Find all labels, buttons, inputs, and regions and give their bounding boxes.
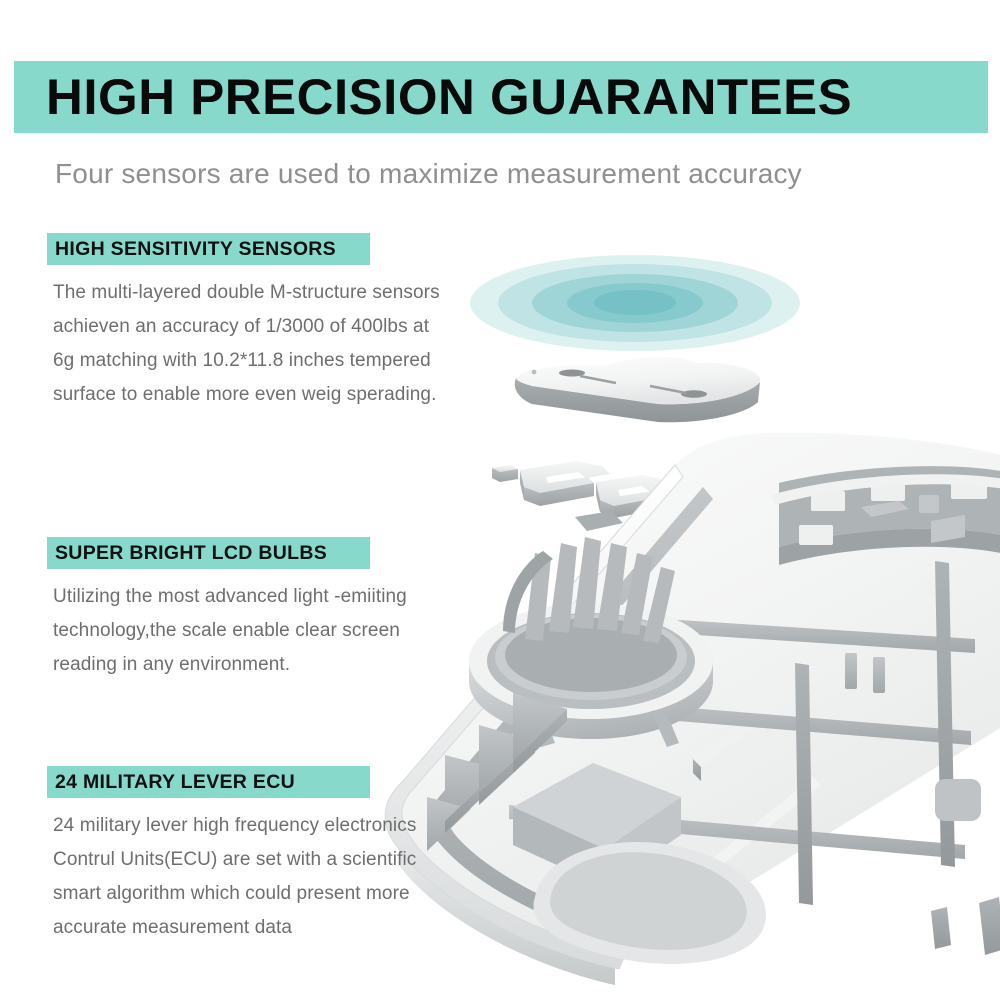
infographic-page: HIGH PRECISION GUARANTEES Four sensors a… <box>0 0 1000 1000</box>
sensor-pin <box>532 370 537 375</box>
header-banner: HIGH PRECISION GUARANTEES <box>14 61 988 133</box>
section-super-bright-lcd-bulbs: SUPER BRIGHT LCD BULBS Utilizing the mos… <box>47 537 453 682</box>
load-cell-plate <box>508 352 778 432</box>
section-24-military-lever-ecu: 24 MILITARY LEVER ECU 24 military lever … <box>47 766 453 945</box>
boss-cap <box>575 511 623 531</box>
scale-internal-chassis <box>375 425 1000 985</box>
section-body: 24 military lever high frequency electro… <box>53 809 453 945</box>
sensor-signal-rings <box>470 255 800 355</box>
section-body: The multi-layered double M-structure sen… <box>53 276 453 412</box>
signal-ring-5 <box>594 290 676 315</box>
section-heading: HIGH SENSITIVITY SENSORS <box>47 233 370 265</box>
corner-brackets <box>931 897 1000 955</box>
page-title: HIGH PRECISION GUARANTEES <box>46 72 852 122</box>
section-heading: 24 MILITARY LEVER ECU <box>47 766 370 798</box>
page-subtitle: Four sensors are used to maximize measur… <box>55 158 802 190</box>
section-body: Utilizing the most advanced light -emiit… <box>53 580 453 682</box>
section-high-sensitivity-sensors: HIGH SENSITIVITY SENSORS The multi-layer… <box>47 233 453 412</box>
section-heading: SUPER BRIGHT LCD BULBS <box>47 537 370 569</box>
